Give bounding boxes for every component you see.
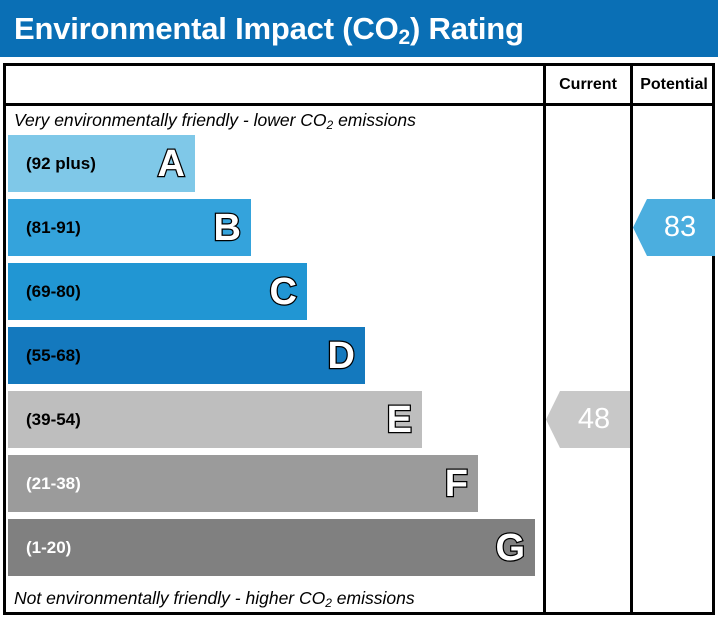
band-letter-c: C [270,273,297,311]
rating-band-b: (81-91)B [8,199,251,256]
caption-bottom-suffix: emissions [332,588,415,608]
band-range-d: (55-68) [26,346,81,366]
caption-not-friendly: Not environmentally friendly - higher CO… [14,588,415,609]
band-range-f: (21-38) [26,474,81,494]
band-letter-d: D [328,337,355,375]
band-range-e: (39-54) [26,410,81,430]
band-range-g: (1-20) [26,538,71,558]
page-title: Environmental Impact (CO2) Rating [14,11,524,47]
caption-bottom-subscript: 2 [325,596,332,610]
chart-title-banner: Environmental Impact (CO2) Rating [0,0,718,57]
caption-top-subscript: 2 [327,118,334,132]
rating-band-g: (1-20)G [8,519,535,576]
current-column-divider [543,63,546,615]
band-letter-g: G [495,529,525,567]
rating-band-c: (69-80)C [8,263,307,320]
band-range-b: (81-91) [26,218,81,238]
page-title-subscript: 2 [399,26,410,49]
band-letter-b: B [214,209,241,247]
header-row-rule [3,103,715,106]
band-range-a: (92 plus) [26,154,96,174]
rating-band-f: (21-38)F [8,455,478,512]
caption-bottom-prefix: Not environmentally friendly - higher CO [14,588,325,608]
band-letter-a: A [158,145,185,183]
band-letter-e: E [387,401,412,439]
column-header-current: Current [546,66,630,103]
rating-band-e: (39-54)E [8,391,422,448]
potential-column-divider [630,63,633,615]
rating-band-a: (92 plus)A [8,135,195,192]
caption-top-suffix: emissions [333,110,416,130]
column-header-potential: Potential [633,66,715,103]
caption-very-friendly: Very environmentally friendly - lower CO… [14,110,416,131]
page-title-prefix: Environmental Impact (CO [14,11,399,46]
band-range-c: (69-80) [26,282,81,302]
caption-top-prefix: Very environmentally friendly - lower CO [14,110,327,130]
band-letter-f: F [445,465,468,503]
rating-band-d: (55-68)D [8,327,365,384]
epc-environmental-impact-chart: Environmental Impact (CO2) Rating Curren… [0,0,718,619]
page-title-suffix: ) Rating [410,11,524,46]
